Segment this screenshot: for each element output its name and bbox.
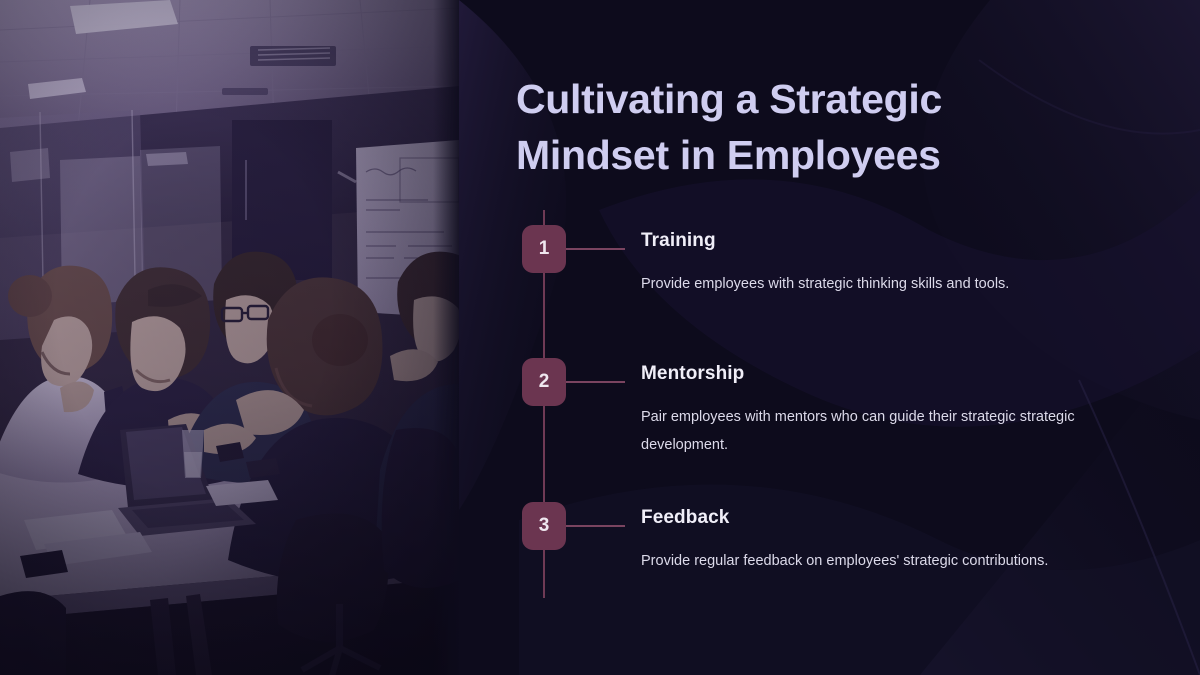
timeline-heading-2: Mentorship	[641, 363, 744, 385]
timeline-connector-3	[566, 525, 625, 527]
timeline-description-3: Provide regular feedback on employees' s…	[641, 547, 1141, 575]
timeline-connector-1	[566, 248, 625, 250]
timeline-heading-1: Training	[641, 230, 716, 252]
timeline: 1 Training Provide employees with strate…	[459, 0, 1200, 675]
meeting-photo	[0, 0, 459, 675]
timeline-badge-3: 3	[522, 502, 566, 550]
timeline-connector-2	[566, 381, 625, 383]
meeting-photo-illustration	[0, 0, 459, 675]
slide-root: Cultivating a Strategic Mindset in Emplo…	[0, 0, 1200, 675]
timeline-description-1: Provide employees with strategic thinkin…	[641, 270, 1141, 298]
timeline-description-2: Pair employees with mentors who can guid…	[641, 403, 1141, 460]
content-panel: Cultivating a Strategic Mindset in Emplo…	[459, 0, 1200, 675]
timeline-badge-2: 2	[522, 358, 566, 406]
timeline-heading-3: Feedback	[641, 507, 729, 529]
timeline-badge-1: 1	[522, 225, 566, 273]
